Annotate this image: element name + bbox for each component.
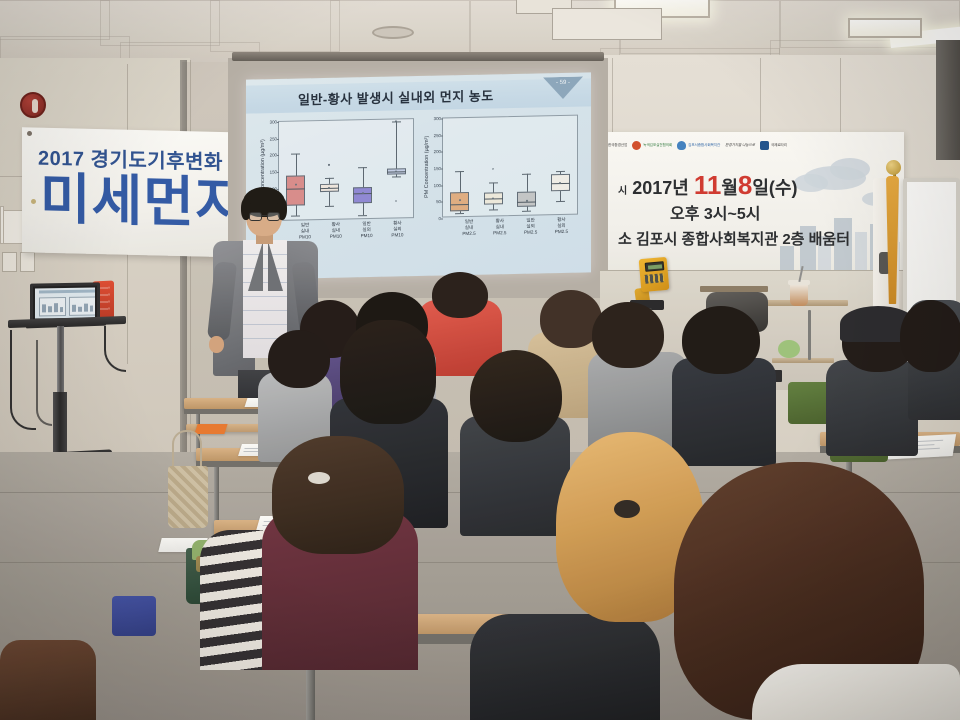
wall-shelf <box>772 358 834 363</box>
x-axis-categories: 일반실내PM2.5황사실내PM2.5일반실외PM2.5황사실외PM2.5 <box>422 217 580 264</box>
sponsor-logo-row: 한국환경산업 녹색김포실천협의회 김포서종합사회복지관 환경가치를 나눔으로 국… <box>608 138 900 152</box>
sponsor-logo: 국제로타리 <box>760 141 787 150</box>
whisker-cap <box>291 153 300 154</box>
air-vent <box>372 26 414 39</box>
power-cable <box>10 330 36 430</box>
x-category-label: 일반실내PM10 <box>293 222 317 240</box>
iced-coffee-cup[interactable] <box>790 284 808 306</box>
person-head <box>340 320 436 424</box>
whisker-cap <box>455 171 464 172</box>
bag-strap <box>172 430 202 470</box>
logo-mark-icon <box>677 141 686 150</box>
y-tick-mark <box>441 202 443 203</box>
projection-screen-roller <box>232 52 604 61</box>
mean-marker <box>459 199 461 201</box>
whisker-cap <box>358 215 367 216</box>
person-head <box>470 350 562 442</box>
person-head <box>592 302 664 368</box>
wall-switch-plate[interactable] <box>20 252 35 272</box>
flag-finial-icon <box>886 160 901 175</box>
y-tick-mark <box>277 172 279 173</box>
classroom-scene: 2017 경기도기후변화 미세먼지 한국환경산업 녹색김포실천협의회 김포서종합… <box>0 0 960 720</box>
event-time: 오후 3시~5시 <box>670 200 760 224</box>
plot-area: 050100150200250300 <box>278 118 414 221</box>
mean-marker <box>526 200 528 202</box>
person-head <box>682 306 760 374</box>
chair-frame <box>700 286 768 292</box>
whisker-cap <box>392 176 401 177</box>
green-object <box>778 340 800 358</box>
person-torso <box>826 360 918 456</box>
y-tick-mark <box>277 139 279 140</box>
lecturer-hand-left <box>209 336 224 353</box>
x-category-label: 황사실내PM2.5 <box>488 218 512 236</box>
hair-tie <box>308 472 330 484</box>
lecturer-glasses-bridge <box>262 215 267 216</box>
whisker <box>329 178 330 206</box>
wall-notice-plate <box>0 206 4 244</box>
whisker-cap <box>522 173 531 174</box>
ceiling-access-panel <box>552 8 662 40</box>
orange-folder[interactable] <box>194 424 227 434</box>
lecturer-glasses <box>249 212 262 221</box>
boxplot-chart-pm25: PM Concentration (μg/m³) 050100150200250… <box>422 113 580 266</box>
tote-bag[interactable] <box>168 466 208 528</box>
x-category-label: 황사실외PM2.5 <box>549 217 573 235</box>
y-tick-mark <box>441 135 443 136</box>
box <box>286 175 305 205</box>
right-banner: 한국환경산업 녹색김포실천협의회 김포서종합사회복지관 환경가치를 나눔으로 국… <box>604 132 904 272</box>
fluorescent-light-panel <box>848 18 922 38</box>
plot-area: 050100150200250300 <box>442 115 578 218</box>
x-category-label: 일반실외PM2.5 <box>519 217 543 235</box>
person-head <box>900 300 960 372</box>
whisker-cap <box>325 206 334 207</box>
whisker-cap <box>455 213 464 214</box>
y-tick-mark <box>441 118 443 119</box>
cart-pole-lower <box>53 392 67 454</box>
left-banner-line2: 미세먼지 <box>40 172 246 232</box>
hair-tie <box>614 500 640 518</box>
dust-meter-keypad[interactable] <box>645 273 665 284</box>
sponsor-logo: 김포서종합사회복지관 <box>677 141 720 150</box>
whisker-cap <box>522 211 531 212</box>
x-category-label: 일반실내PM2.5 <box>457 219 481 237</box>
outlier-point <box>328 164 330 166</box>
power-cable <box>36 340 52 426</box>
stand-pole <box>808 310 811 360</box>
event-place: 소 김포시 종합사회복지관 2층 배움터 <box>618 228 850 249</box>
person-torso <box>672 358 776 466</box>
event-date: 시 2017년 11월8일(수) <box>618 170 797 201</box>
y-tick-mark <box>277 155 279 156</box>
dust-meter-display <box>645 261 665 272</box>
whisker-cap <box>489 209 498 210</box>
whisker-cap <box>556 201 565 202</box>
outlier-point <box>492 168 494 170</box>
laptop-slide-mirror <box>35 287 95 318</box>
wall-switch-plate[interactable] <box>2 252 17 272</box>
chair[interactable] <box>112 596 156 636</box>
y-tick-mark <box>441 152 443 153</box>
whisker-cap <box>325 178 334 179</box>
y-tick-mark <box>277 122 279 123</box>
sponsor-logo: 환경가치를 나눔으로 <box>725 143 755 148</box>
sponsor-logo: 한국환경산업 <box>608 143 627 148</box>
y-tick-mark <box>441 168 443 169</box>
whisker-cap <box>489 183 498 184</box>
left-banner: 2017 경기도기후변화 미세먼지 <box>22 127 252 258</box>
cart-pole <box>57 326 64 398</box>
person-head <box>432 272 488 318</box>
person-head <box>268 330 330 388</box>
y-tick-mark <box>441 185 443 186</box>
box <box>353 187 372 204</box>
outlier-point <box>395 200 397 202</box>
fire-alarm-bell <box>20 92 46 118</box>
person-head <box>272 436 404 554</box>
x-category-label: 일반실외PM10 <box>355 221 379 239</box>
whisker-cap <box>291 215 300 216</box>
x-category-label: 황사실외PM10 <box>385 220 409 238</box>
logo-mark-icon <box>632 141 641 150</box>
sponsor-logo: 녹색김포실천협의회 <box>632 141 672 150</box>
person-shoulder <box>752 664 960 720</box>
person-torso <box>470 614 660 720</box>
x-category-label: 황사실내PM10 <box>324 221 348 239</box>
whisker-cap <box>358 167 367 168</box>
box <box>450 192 469 211</box>
lecturer-glasses <box>267 212 280 221</box>
whisker-cap <box>556 171 565 172</box>
floor-bag[interactable] <box>0 640 96 720</box>
logo-mark-icon <box>760 141 769 150</box>
y-axis-label: PM Concentration (μg/m³) <box>422 116 433 218</box>
